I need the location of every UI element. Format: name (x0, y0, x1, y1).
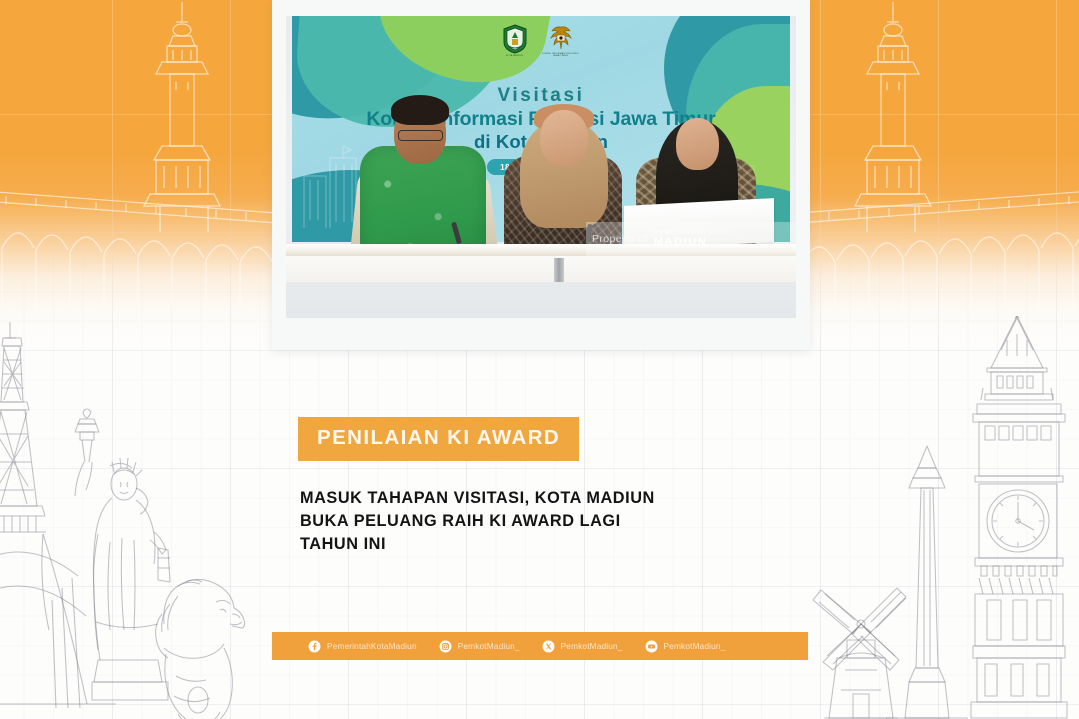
social-handle-facebook: PemerintahKotaMadiun (327, 641, 417, 651)
poster-canvas: KOTA MADIUN KOMISI INFORMASI PROVINSI JA… (0, 0, 1079, 719)
person1-hair (391, 95, 449, 125)
youtube-icon[interactable] (645, 640, 658, 653)
photo-watermark: Property of PEMERINTAH KOTA MADIUN (586, 222, 796, 256)
news-photo-frame: KOTA MADIUN KOMISI INFORMASI PROVINSI JA… (272, 0, 810, 350)
category-badge-label: PENILAIAN KI AWARD (317, 426, 560, 449)
headline-line-2: BUKA PELUANG RAIH KI AWARD LAGI (300, 510, 770, 533)
news-photo: KOTA MADIUN KOMISI INFORMASI PROVINSI JA… (286, 16, 796, 318)
logo-komisi-informasi-caption: KOMISI INFORMASI PROVINSI JAWA TIMUR (541, 53, 581, 58)
social-item-instagram[interactable]: PemkotMadiun_ (439, 640, 520, 653)
logo-kota-madiun-caption: KOTA MADIUN (506, 55, 523, 57)
garuda-pancasila-icon (548, 24, 574, 52)
logo-kota-madiun: KOTA MADIUN (502, 24, 528, 57)
twitter-x-icon[interactable] (542, 640, 555, 653)
social-media-bar: PemerintahKotaMadiun PemkotMadiun_ Pemko… (272, 632, 808, 660)
social-item-twitter-x[interactable]: PemkotMadiun_ (542, 640, 623, 653)
social-item-facebook[interactable]: PemerintahKotaMadiun (308, 640, 417, 653)
social-handle-twitter-x: PemkotMadiun_ (561, 641, 623, 651)
conference-desk-leg (554, 258, 564, 282)
category-badge: PENILAIAN KI AWARD (298, 417, 579, 461)
headline: MASUK TAHAPAN VISITASI, KOTA MADIUN BUKA… (300, 487, 770, 556)
facebook-icon[interactable] (308, 640, 321, 653)
person1-glasses (398, 130, 443, 141)
watermark-property-of: Property of (592, 233, 648, 245)
social-handle-youtube: PemkotMadiun_ (664, 641, 726, 651)
instagram-icon[interactable] (439, 640, 452, 653)
headline-line-3: TAHUN INI (300, 533, 770, 556)
person3-head (676, 118, 719, 170)
banner-logos: KOTA MADIUN KOMISI INFORMASI PROVINSI JA… (292, 24, 790, 58)
social-item-youtube[interactable]: PemkotMadiun_ (645, 640, 726, 653)
social-handle-instagram: PemkotMadiun_ (458, 641, 520, 651)
logo-komisi-informasi: KOMISI INFORMASI PROVINSI JAWA TIMUR (541, 24, 581, 58)
conference-desk-front (286, 256, 796, 282)
watermark-org: PEMERINTAH KOTA MADIUN (654, 230, 730, 248)
kota-madiun-emblem-icon (502, 24, 528, 54)
watermark-org-line2: MADIUN (654, 237, 730, 248)
person2-head (540, 110, 588, 166)
headline-line-1: MASUK TAHAPAN VISITASI, KOTA MADIUN (300, 487, 770, 510)
